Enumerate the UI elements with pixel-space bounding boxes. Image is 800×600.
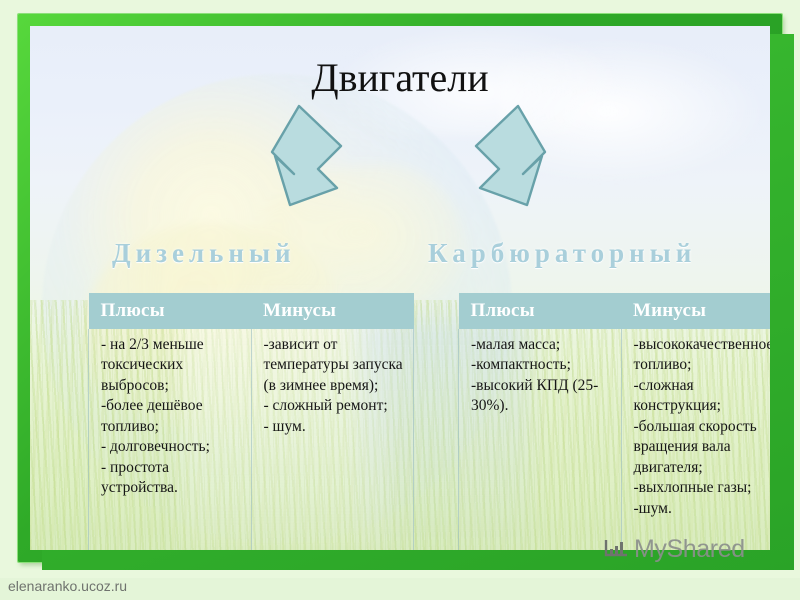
- cell-cons: -высококачественное топливо; -сложная ко…: [621, 329, 770, 550]
- arrow-down-right-icon: [450, 102, 575, 212]
- slide-canvas: Двигатели Дизельный Карбюраторный Плюсы …: [30, 26, 770, 550]
- comparison-table-diesel: Плюсы Минусы - на 2/3 меньше токсических…: [88, 293, 414, 550]
- table-row: -малая масса; -компактность; -высокий КП…: [459, 329, 771, 550]
- site-watermark: elenaranko.ucoz.ru: [8, 578, 127, 594]
- slide-root: Двигатели Дизельный Карбюраторный Плюсы …: [0, 0, 800, 600]
- table-row: - на 2/3 меньше токсических выбросов; -б…: [89, 329, 414, 550]
- section-heading-carburetor: Карбюраторный: [428, 238, 696, 269]
- page-title: Двигатели: [30, 54, 770, 101]
- table-header-row: Плюсы Минусы: [459, 293, 771, 329]
- cell-pros: -малая масса; -компактность; -высокий КП…: [459, 329, 622, 550]
- cell-pros: - на 2/3 меньше токсических выбросов; -б…: [89, 329, 252, 550]
- column-header-cons: Минусы: [621, 293, 770, 329]
- cell-cons: -зависит от температуры запуска (в зимне…: [251, 329, 414, 550]
- column-header-pros: Плюсы: [459, 293, 622, 329]
- comparison-table-carburetor: Плюсы Минусы -малая масса; -компактность…: [458, 293, 770, 550]
- table-header-row: Плюсы Минусы: [89, 293, 414, 329]
- column-header-pros: Плюсы: [89, 293, 252, 329]
- section-heading-diesel: Дизельный: [112, 238, 296, 269]
- arrow-down-left-icon: [242, 102, 367, 212]
- column-header-cons: Минусы: [251, 293, 414, 329]
